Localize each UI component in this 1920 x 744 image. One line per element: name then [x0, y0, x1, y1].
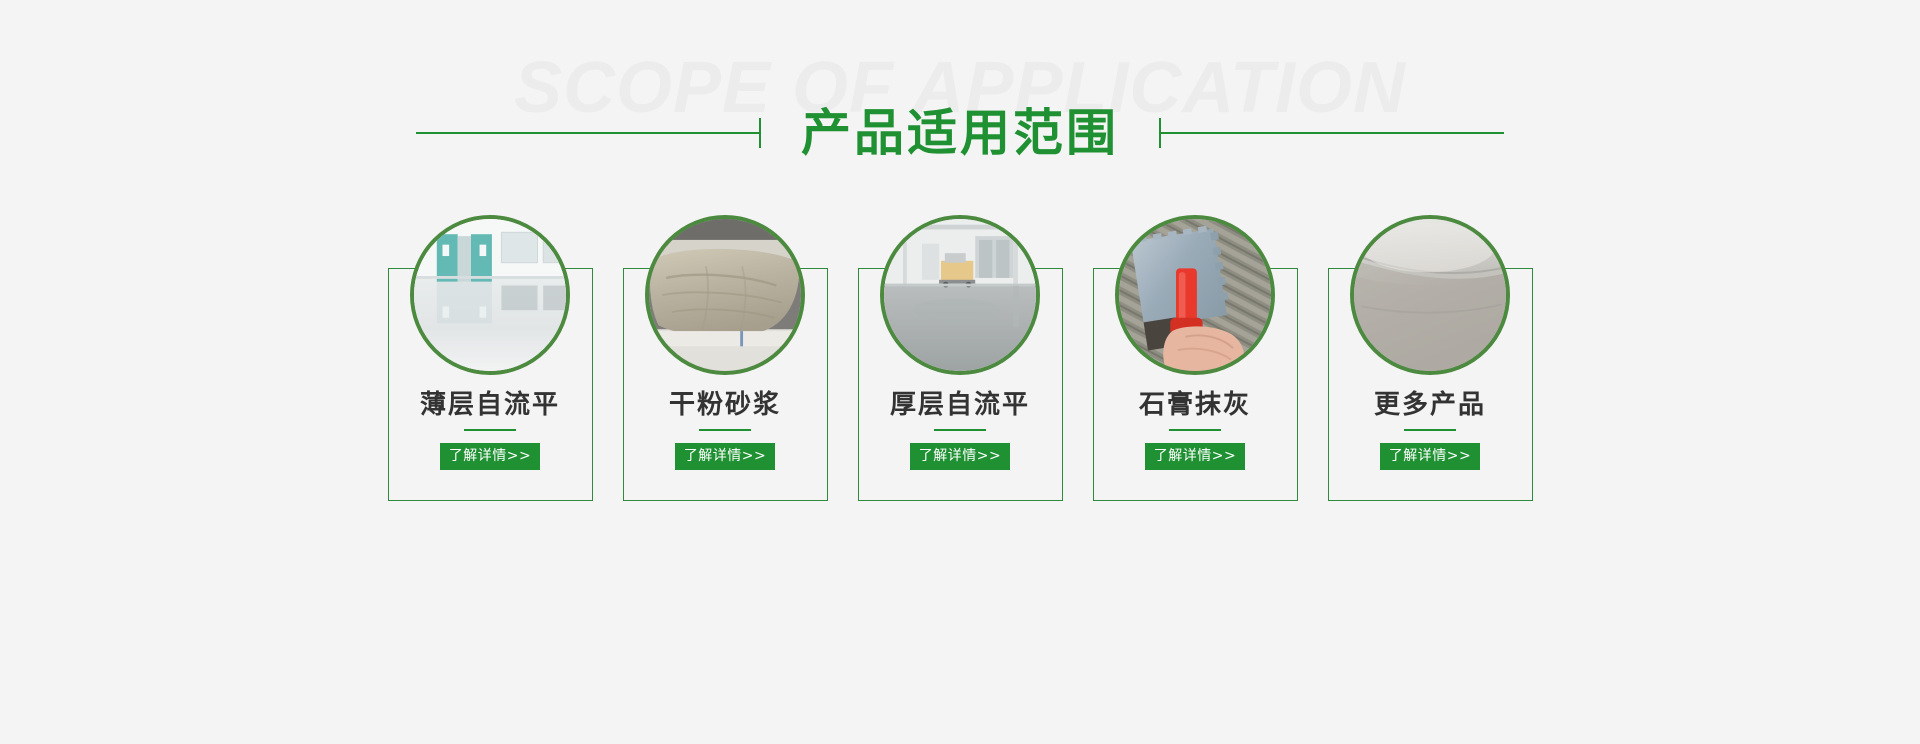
product-card-list: 薄层自流平 了解详情>>	[0, 215, 1920, 501]
card-underline	[464, 429, 516, 431]
learn-more-button[interactable]: 了解详情>>	[440, 443, 540, 470]
card-underline	[934, 429, 986, 431]
learn-more-button[interactable]: 了解详情>>	[1380, 443, 1480, 470]
scope-of-application-section: SCOPE OF APPLICATION 产品适用范围	[0, 0, 1920, 744]
product-thumbnail	[1350, 215, 1510, 375]
learn-more-button[interactable]: 了解详情>>	[910, 443, 1010, 470]
product-thumbnail	[645, 215, 805, 375]
product-thumbnail	[1115, 215, 1275, 375]
product-thumbnail	[410, 215, 570, 375]
product-card[interactable]: 石膏抹灰 了解详情>>	[1093, 215, 1298, 501]
heading-rule-left	[416, 132, 761, 134]
product-card[interactable]: 厚层自流平 了解详情>>	[858, 215, 1063, 501]
product-card-label: 厚层自流平	[890, 392, 1030, 418]
product-card-label: 石膏抹灰	[1139, 392, 1251, 418]
heading-rule-right	[1159, 132, 1504, 134]
learn-more-button[interactable]: 了解详情>>	[1145, 443, 1245, 470]
card-underline	[1404, 429, 1456, 431]
product-card[interactable]: 更多产品 了解详情>>	[1328, 215, 1533, 501]
product-card-label: 薄层自流平	[420, 392, 560, 418]
product-card-label: 干粉砂浆	[669, 392, 781, 418]
product-card[interactable]: 干粉砂浆 了解详情>>	[623, 215, 828, 501]
product-card-label: 更多产品	[1374, 392, 1486, 418]
card-underline	[699, 429, 751, 431]
page-title: 产品适用范围	[801, 108, 1119, 158]
learn-more-button[interactable]: 了解详情>>	[675, 443, 775, 470]
section-heading: SCOPE OF APPLICATION 产品适用范围	[0, 0, 1920, 200]
product-thumbnail	[880, 215, 1040, 375]
card-underline	[1169, 429, 1221, 431]
product-card[interactable]: 薄层自流平 了解详情>>	[388, 215, 593, 501]
heading-row: 产品适用范围	[0, 108, 1920, 158]
